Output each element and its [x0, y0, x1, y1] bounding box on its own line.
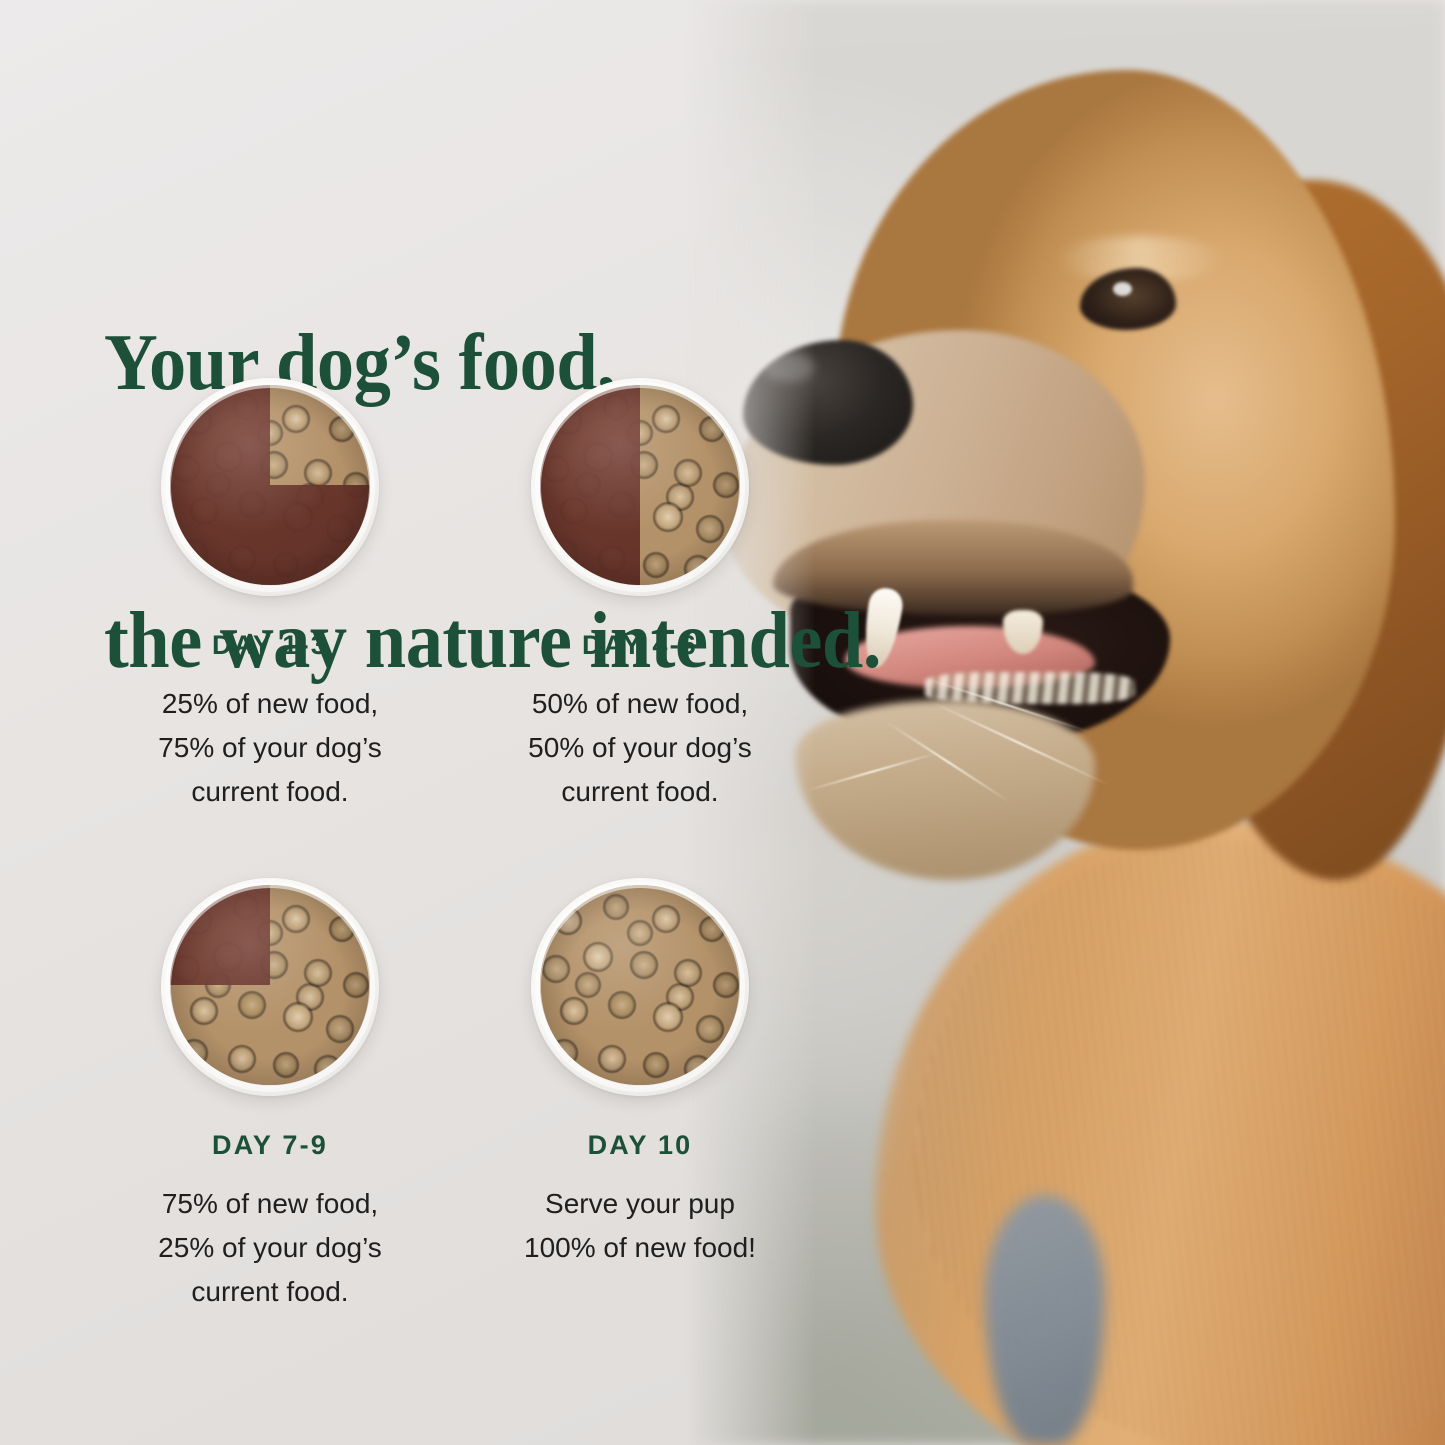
transition-guide-graphic: Your dog’s food, the way nature intended…	[0, 0, 1445, 1445]
step-day-1-3: DAY 1-3 25% of new food, 75% of your dog…	[85, 378, 455, 815]
dog-eye-highlight	[1113, 282, 1132, 296]
bowl-day-1-3	[161, 378, 379, 596]
day-label: DAY 4-6	[455, 632, 825, 659]
step-day-7-9: DAY 7-9 75% of new food, 25% of your dog…	[85, 878, 455, 1315]
bowl-contents	[540, 385, 740, 585]
bowl-day-7-9	[161, 878, 379, 1096]
transition-steps: DAY 1-3 25% of new food, 75% of your dog…	[0, 0, 840, 1445]
step-description: 25% of new food, 75% of your dog’s curre…	[85, 682, 455, 815]
step-description: 75% of new food, 25% of your dog’s curre…	[85, 1182, 455, 1315]
day-label: DAY 10	[455, 1132, 825, 1159]
step-description: 50% of new food, 50% of your dog’s curre…	[455, 682, 825, 815]
bowl-inner-shadow	[540, 385, 740, 585]
day-label: DAY 7-9	[85, 1132, 455, 1159]
step-day-4-6: DAY 4-6 50% of new food, 50% of your dog…	[455, 378, 825, 815]
day-label: DAY 1-3	[85, 632, 455, 659]
dog-collar	[985, 1195, 1105, 1445]
step-description: Serve your pup 100% of new food!	[455, 1182, 825, 1270]
bowl-contents	[170, 385, 370, 585]
bowl-contents	[540, 885, 740, 1085]
bowl-contents	[170, 885, 370, 1085]
step-day-10: DAY 10 Serve your pup 100% of new food!	[455, 878, 825, 1270]
bowl-day-10	[531, 878, 749, 1096]
bowl-inner-shadow	[170, 385, 370, 585]
bowl-inner-shadow	[540, 885, 740, 1085]
bowl-inner-shadow	[170, 885, 370, 1085]
bowl-day-4-6	[531, 378, 749, 596]
